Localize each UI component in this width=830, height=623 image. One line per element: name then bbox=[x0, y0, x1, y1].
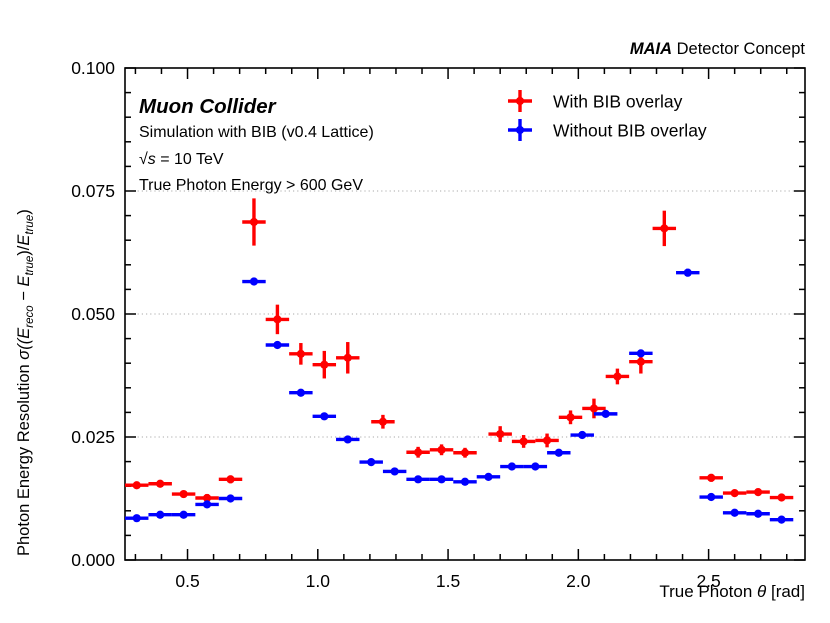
marker bbox=[660, 224, 668, 232]
x-tick-label: 0.5 bbox=[175, 571, 199, 591]
marker bbox=[754, 510, 762, 518]
detector-concept-header: MAIA Detector Concept bbox=[630, 40, 806, 58]
marker bbox=[707, 474, 715, 482]
marker bbox=[707, 493, 715, 501]
y-tick-label: 0.025 bbox=[71, 427, 115, 447]
marker bbox=[250, 218, 258, 226]
y-tick-label: 0.050 bbox=[71, 304, 115, 324]
marker bbox=[180, 511, 188, 519]
marker bbox=[637, 358, 645, 366]
sqrt-s-symbol: √s bbox=[139, 151, 156, 168]
marker bbox=[320, 412, 328, 420]
marker bbox=[508, 462, 516, 470]
x-tick-label: 1.0 bbox=[306, 571, 331, 591]
etrue2-subscript: true bbox=[24, 215, 36, 235]
cm-energy-value: = 10 TeV bbox=[156, 151, 224, 168]
marker bbox=[367, 458, 375, 466]
marker bbox=[273, 341, 281, 349]
marker bbox=[297, 389, 305, 397]
marker bbox=[520, 437, 528, 445]
marker bbox=[273, 315, 281, 323]
photon-energy-resolution-plot: 0.51.01.52.02.5 0.0000.0250.0500.0750.10… bbox=[0, 0, 830, 623]
x-tick-label: 2.0 bbox=[566, 571, 591, 591]
marker bbox=[203, 500, 211, 508]
marker bbox=[320, 361, 328, 369]
legend-marker-dot bbox=[516, 126, 524, 134]
simulation-label: Simulation with BIB (v0.4 Lattice) bbox=[139, 124, 374, 141]
legend-marker-dot bbox=[516, 97, 524, 105]
etrue-subscript: true bbox=[24, 256, 36, 276]
detector-concept-text: Detector Concept bbox=[672, 40, 805, 58]
minus-symbol: − bbox=[15, 287, 33, 306]
marker bbox=[777, 493, 785, 501]
marker bbox=[684, 269, 692, 277]
marker bbox=[637, 349, 645, 357]
marker bbox=[754, 488, 762, 496]
marker bbox=[226, 494, 234, 502]
marker bbox=[731, 509, 739, 517]
marker bbox=[461, 478, 469, 486]
marker bbox=[484, 473, 492, 481]
marker bbox=[250, 277, 258, 285]
marker bbox=[437, 475, 445, 483]
marker bbox=[414, 475, 422, 483]
marker bbox=[379, 418, 387, 426]
ereco-subscript: reco bbox=[24, 305, 36, 328]
y-tick-label: 0.075 bbox=[71, 181, 115, 201]
experiment-label: Muon Collider bbox=[139, 95, 277, 118]
marker bbox=[226, 475, 234, 483]
x-axis-title: True Photon θ [rad] bbox=[659, 582, 805, 601]
marker bbox=[555, 449, 563, 457]
legend-label: With BIB overlay bbox=[553, 92, 683, 112]
marker bbox=[602, 410, 610, 418]
legend-label: Without BIB overlay bbox=[553, 121, 707, 141]
marker bbox=[156, 480, 164, 488]
sigma-symbol: σ(( bbox=[15, 337, 33, 359]
y-title-prefix: Photon Energy Resolution bbox=[15, 360, 33, 556]
selection-label: True Photon Energy > 600 GeV bbox=[139, 177, 363, 194]
close-paren: )/ bbox=[15, 245, 33, 255]
marker bbox=[777, 516, 785, 524]
marker bbox=[578, 431, 586, 439]
marker bbox=[731, 489, 739, 497]
x-axis-title-suffix: [rad] bbox=[766, 582, 805, 601]
y-tick-label: 0.000 bbox=[71, 550, 115, 570]
chart-root: 0.51.01.52.02.5 0.0000.0250.0500.0750.10… bbox=[0, 0, 830, 623]
marker bbox=[133, 481, 141, 489]
x-axis-title-prefix: True Photon bbox=[659, 582, 757, 601]
y-tick-label: 0.100 bbox=[71, 58, 115, 78]
marker bbox=[531, 462, 539, 470]
cm-energy-label: √s = 10 TeV bbox=[139, 151, 224, 168]
marker bbox=[437, 446, 445, 454]
y-title-end: ) bbox=[15, 209, 33, 215]
marker bbox=[297, 350, 305, 358]
marker bbox=[156, 511, 164, 519]
marker bbox=[566, 413, 574, 421]
marker bbox=[344, 435, 352, 443]
marker bbox=[613, 372, 621, 380]
marker bbox=[414, 448, 422, 456]
marker bbox=[543, 436, 551, 444]
marker bbox=[391, 467, 399, 475]
marker bbox=[461, 449, 469, 457]
marker bbox=[344, 354, 352, 362]
maia-label: MAIA bbox=[630, 40, 672, 58]
marker bbox=[496, 430, 504, 438]
marker bbox=[133, 514, 141, 522]
marker bbox=[180, 490, 188, 498]
x-tick-label: 1.5 bbox=[436, 571, 460, 591]
marker bbox=[590, 404, 598, 412]
